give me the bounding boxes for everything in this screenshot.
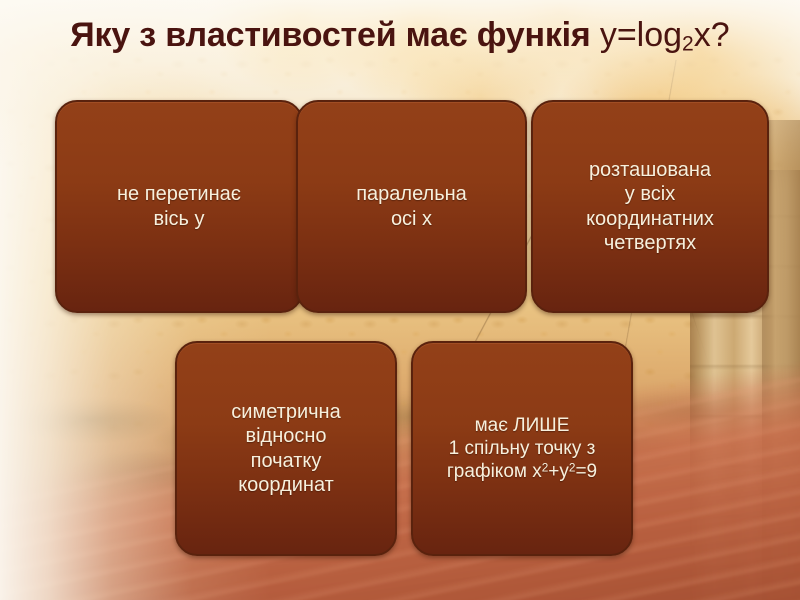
title-formula-prefix: y=log [600, 16, 682, 54]
answer-option-1-label: не перетинає вісь y [57, 182, 301, 231]
page-title: Яку з властивостей має функія y=log2x? [0, 18, 800, 56]
answer-option-1[interactable]: не перетинає вісь y [55, 100, 303, 313]
answer-option-5[interactable]: має ЛИШЕ1 спільну точку зграфіком x2+y2=… [411, 341, 633, 556]
answer-option-2-label: паралельна осі х [298, 182, 525, 231]
answer-option-4[interactable]: симетрична відносно початку координат [175, 341, 397, 556]
answer-option-5-line-3-suffix: =9 [575, 461, 597, 482]
title-formula-subscript: 2 [682, 33, 694, 56]
title-formula-suffix: x? [694, 16, 730, 54]
title-question-text: Яку з властивостей має функія [70, 16, 600, 54]
answer-option-5-line-3-mid: +y [548, 461, 569, 482]
answer-option-5-label: має ЛИШЕ1 спільну точку зграфіком x2+y2=… [413, 414, 631, 484]
answer-option-2[interactable]: паралельна осі х [296, 100, 527, 313]
quiz-slide: Яку з властивостей має функія y=log2x? н… [0, 0, 800, 600]
answer-option-5-line-3-prefix: графіком x [447, 461, 542, 482]
answer-option-5-line-3: графіком x2+y2=9 [447, 461, 597, 482]
title-formula: y=log2x? [600, 16, 730, 54]
answer-option-3[interactable]: розташована у всіх координатних четвертя… [531, 100, 769, 313]
answer-option-3-label: розташована у всіх координатних четвертя… [533, 158, 767, 256]
answer-option-5-line-1: має ЛИШЕ [475, 415, 570, 436]
answer-option-5-line-2: 1 спільну точку з [449, 438, 596, 459]
answer-option-4-label: симетрична відносно початку координат [177, 400, 395, 498]
